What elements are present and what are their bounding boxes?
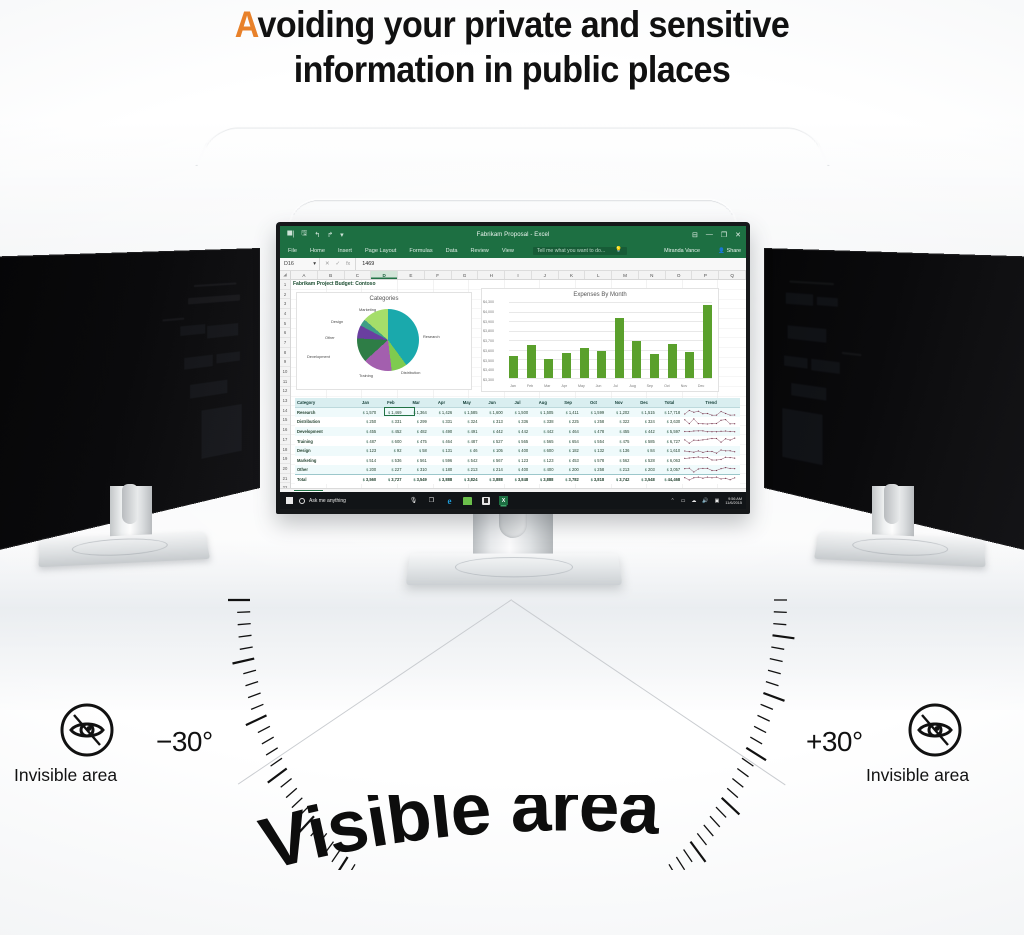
minor-tick xyxy=(766,682,779,686)
row-header[interactable]: 15 xyxy=(280,416,290,426)
pie-label-marketing: Marketing xyxy=(359,307,376,312)
table-cell-sparkline[interactable] xyxy=(682,408,740,418)
table-cell-sparkline[interactable] xyxy=(682,427,740,437)
invisible-area-label-right: Invisible area xyxy=(866,765,969,786)
minor-tick xyxy=(737,769,748,777)
row-header[interactable]: 9 xyxy=(280,358,290,368)
table-cell-value[interactable]: $ 3,848 xyxy=(505,475,530,485)
system-tray[interactable]: ⌃ ▭ ☁ 🔊 ▣ 9:56 AM 11/6/2015 xyxy=(670,497,746,505)
major-tick xyxy=(233,659,255,664)
minor-tick xyxy=(262,737,274,744)
y-tick-label: $3,300 xyxy=(483,378,494,382)
table-cell-value[interactable]: $ 455 xyxy=(353,427,378,437)
table-cell-value[interactable]: $ 1,599 xyxy=(581,408,606,418)
table-cell-value[interactable]: $ 562 xyxy=(606,456,631,466)
excel-title-bar: ⯀| 🖫 ↰ ↱ ▾ Fabrikam Proposal - Excel ⊟ —… xyxy=(280,226,746,243)
table-cell-value[interactable]: $ 136 xyxy=(606,446,631,456)
table-column-header: Dec xyxy=(631,398,656,408)
table-cell-value[interactable]: $ 514 xyxy=(353,456,378,466)
table-cell-value[interactable]: $ 442 xyxy=(505,427,530,437)
volume-icon[interactable]: 🔊 xyxy=(702,498,708,504)
name-box-chevron-icon[interactable]: ▾ xyxy=(313,261,316,267)
table-cell-value[interactable]: $ 1,585 xyxy=(454,408,479,418)
table-cell-value[interactable]: $ 313 xyxy=(479,417,504,427)
table-cell-value[interactable]: $ 1,411 xyxy=(555,408,580,418)
tab-formulas[interactable]: Formulas xyxy=(409,248,432,254)
row-header[interactable]: 18 xyxy=(280,445,290,455)
table-cell-value[interactable]: $ 200 xyxy=(555,465,580,475)
minor-tick xyxy=(239,635,252,637)
table-cell-value[interactable]: $ 475 xyxy=(606,436,631,446)
column-header-K[interactable]: K xyxy=(559,271,586,279)
cancel-icon[interactable]: ✕ xyxy=(325,261,330,267)
column-header-J[interactable]: J xyxy=(532,271,559,279)
bar-jul xyxy=(615,318,624,378)
table-cell-value[interactable]: $ 1,515 xyxy=(631,408,656,418)
table-cell-value[interactable]: $ 338 xyxy=(530,417,555,427)
table-cell-value[interactable]: $ 132 xyxy=(581,446,606,456)
tab-data[interactable]: Data xyxy=(446,248,458,254)
table-cell-value[interactable]: $ 400 xyxy=(530,465,555,475)
tab-home[interactable]: Home xyxy=(310,248,325,254)
headline-line-2: information in public places xyxy=(41,47,983,92)
bar-chart-title: Expenses By Month xyxy=(482,292,718,298)
column-header-Q[interactable]: Q xyxy=(719,271,746,279)
table-cell-value[interactable]: $ 478 xyxy=(581,427,606,437)
minor-tick xyxy=(732,779,743,788)
share-label: Share xyxy=(727,248,741,254)
table-cell-value[interactable]: $ 324 xyxy=(454,417,479,427)
table-cell-value[interactable]: $ 487 xyxy=(353,436,378,446)
table-cell-total[interactable]: $ 44,468 xyxy=(657,475,682,485)
table-cell-value[interactable]: $ 336 xyxy=(505,417,530,427)
table-cell-value[interactable]: $ 182 xyxy=(555,446,580,456)
row-header[interactable]: 10 xyxy=(280,367,290,377)
ghost-content xyxy=(817,297,838,307)
table-cell-sparkline[interactable] xyxy=(682,456,740,466)
bar-oct xyxy=(668,344,677,378)
window-title: Fabrikam Proposal - Excel xyxy=(280,232,746,238)
table-cell-sparkline[interactable] xyxy=(682,446,740,456)
ghost-content xyxy=(188,294,240,304)
lightbulb-icon: 💡 xyxy=(615,247,622,253)
table-row[interactable]: Total$ 3,560$ 3,727$ 3,549$ 3,888$ 3,824… xyxy=(295,475,740,485)
row-header[interactable]: 16 xyxy=(280,425,290,435)
table-cell-value[interactable]: $ 490 xyxy=(429,427,454,437)
show-hidden-icons-icon[interactable]: ⌃ xyxy=(670,498,674,504)
table-row[interactable]: Research$ 1,570$ 1,469$ 1,364$ 1,426$ 1,… xyxy=(295,408,740,418)
table-cell-value[interactable]: $ 567 xyxy=(479,456,504,466)
table-header-row: CategoryJanFebMarAprMayJunJulAugSepOctNo… xyxy=(295,398,740,408)
table-cell-value[interactable]: $ 400 xyxy=(505,465,530,475)
tab-view[interactable]: View xyxy=(502,248,514,254)
table-column-header: Aug xyxy=(530,398,555,408)
table-cell-value[interactable]: $ 3,548 xyxy=(631,475,656,485)
minor-tick xyxy=(773,624,786,625)
table-cell-value[interactable]: $ 331 xyxy=(429,417,454,427)
table-cell-value[interactable]: $ 3,888 xyxy=(530,475,555,485)
table-cell-value[interactable]: $ 482 xyxy=(404,427,429,437)
table-cell-value[interactable]: $ 400 xyxy=(505,446,530,456)
table-cell-total[interactable]: $ 6,727 xyxy=(657,436,682,446)
table-cell-value[interactable]: $ 528 xyxy=(631,456,656,466)
row-header[interactable]: 12 xyxy=(280,387,290,397)
minor-tick xyxy=(237,612,250,613)
table-row[interactable]: Other$ 200$ 227$ 310$ 180$ 213$ 214$ 400… xyxy=(295,465,740,475)
table-cell-value[interactable]: $ 487 xyxy=(454,436,479,446)
angle-label-left: −30° xyxy=(156,726,213,758)
bar-sep xyxy=(650,354,659,378)
headline-line-1-rest: voiding your private and sensitive xyxy=(258,4,790,45)
sheet-title-cell[interactable]: Fabrikam Project Budget: Contoso xyxy=(293,281,376,287)
windows-taskbar[interactable]: Ask me anything 🎙 ❐ e X ⌃ ▭ ☁ 🔊 ▣ xyxy=(280,492,746,509)
ghost-content xyxy=(784,355,808,368)
table-row[interactable]: Distribution$ 250$ 331$ 299$ 331$ 324$ 3… xyxy=(295,417,740,427)
search-placeholder: Ask me anything xyxy=(309,498,346,504)
table-cell-value[interactable]: $ 464 xyxy=(555,427,580,437)
table-cell-value[interactable]: $ 250 xyxy=(353,417,378,427)
left-monitor xyxy=(0,248,268,568)
pie-chart-plot: Research Distribution Training Developme… xyxy=(297,302,471,380)
excel-icon[interactable]: X xyxy=(499,496,508,505)
minor-tick xyxy=(281,779,292,788)
budget-table[interactable]: CategoryJanFebMarAprMayJunJulAugSepOctNo… xyxy=(295,398,740,484)
row-header[interactable]: 5 xyxy=(280,319,290,329)
ribbon-tabs[interactable]: File Home Insert Page Layout Formulas Da… xyxy=(280,243,746,258)
table-cell-value[interactable]: $ 1,500 xyxy=(505,408,530,418)
table-cell-sparkline[interactable] xyxy=(682,417,740,427)
table-cell-category[interactable]: Training xyxy=(295,436,353,446)
table-row[interactable]: Training$ 487$ 600$ 475$ 464$ 487$ 527$ … xyxy=(295,436,740,446)
x-tick-label: Aug xyxy=(629,384,635,388)
pie-chart[interactable]: Categories Research Distribution Trainin… xyxy=(296,292,472,390)
tell-me-search[interactable]: Tell me what you want to do... 💡 xyxy=(533,247,627,255)
major-tick xyxy=(246,715,267,725)
table-cell-value[interactable]: $ 565 xyxy=(530,436,555,446)
table-cell-value[interactable]: $ 542 xyxy=(454,456,479,466)
table-cell-value[interactable]: $ 123 xyxy=(353,446,378,456)
row-header[interactable]: 14 xyxy=(280,406,290,416)
major-tick xyxy=(746,748,766,760)
ghost-content xyxy=(190,380,227,399)
enter-icon[interactable]: ✓ xyxy=(336,261,341,267)
row-header[interactable]: 2 xyxy=(280,290,290,300)
ribbon-display-icon[interactable]: ⊟ xyxy=(692,231,698,239)
table-cell-value[interactable]: $ 600 xyxy=(530,446,555,456)
column-header-I[interactable]: I xyxy=(505,271,532,279)
action-center-icon[interactable]: ▣ xyxy=(715,498,720,504)
table-cell-value[interactable]: $ 105 xyxy=(479,446,504,456)
taskbar-pinned-icons[interactable]: 🎙 ❐ e X xyxy=(409,496,508,505)
row-header[interactable]: 17 xyxy=(280,435,290,445)
worksheet-grid[interactable]: 1234567891011121314151617181920212223 Fa… xyxy=(280,280,746,509)
x-tick-label: Dec xyxy=(698,384,704,388)
formula-bar-value[interactable]: 1469 xyxy=(356,261,374,267)
minor-tick xyxy=(251,704,263,709)
column-header-N[interactable]: N xyxy=(639,271,666,279)
bar-jun xyxy=(597,351,606,378)
insert-function-icon[interactable]: fx xyxy=(346,261,350,267)
x-tick-label: Apr xyxy=(562,384,568,388)
table-cell-value[interactable]: $ 214 xyxy=(479,465,504,475)
bar-nov xyxy=(685,352,694,378)
column-headers[interactable]: ◢ A B C D E F G H I J K L M N O P Q xyxy=(280,271,746,280)
table-cell-value[interactable]: $ 84 xyxy=(631,446,656,456)
table-cell-value[interactable]: $ 3,888 xyxy=(429,475,454,485)
table-cell-value[interactable]: $ 3,818 xyxy=(581,475,606,485)
table-cell-value[interactable]: $ 453 xyxy=(555,456,580,466)
tab-insert[interactable]: Insert xyxy=(338,248,352,254)
column-header-G[interactable]: G xyxy=(452,271,479,279)
table-cell-value[interactable]: $ 3,742 xyxy=(606,475,631,485)
row-header[interactable]: 3 xyxy=(280,299,290,309)
table-cell-value[interactable]: $ 180 xyxy=(429,465,454,475)
row-header[interactable]: 8 xyxy=(280,348,290,358)
row-header[interactable]: 1 xyxy=(280,280,290,290)
table-cell-value[interactable]: $ 1,600 xyxy=(479,408,504,418)
table-cell-value[interactable]: $ 527 xyxy=(479,436,504,446)
minor-tick xyxy=(258,726,270,732)
table-cell-value[interactable]: $ 536 xyxy=(378,456,403,466)
ghost-content xyxy=(162,318,184,322)
pie-label-other: Other xyxy=(325,335,335,340)
table-cell-category[interactable]: Other xyxy=(295,465,353,475)
column-header-P[interactable]: P xyxy=(692,271,719,279)
tab-review[interactable]: Review xyxy=(471,248,489,254)
table-cell-value[interactable]: $ 600 xyxy=(378,436,403,446)
pie-slices xyxy=(357,309,419,371)
column-header-A[interactable]: A xyxy=(291,271,318,279)
table-cell-value[interactable]: $ 464 xyxy=(429,436,454,446)
table-cell-value[interactable]: $ 561 xyxy=(404,456,429,466)
y-tick-label: $3,500 xyxy=(483,359,494,363)
ghost-content xyxy=(201,404,241,459)
windows-start-icon[interactable] xyxy=(280,497,299,504)
table-cell-value[interactable]: $ 3,560 xyxy=(353,475,378,485)
column-header-L[interactable]: L xyxy=(585,271,612,279)
table-body[interactable]: Research$ 1,570$ 1,469$ 1,364$ 1,426$ 1,… xyxy=(295,408,740,485)
ghost-content xyxy=(194,282,237,287)
table-cell-category[interactable]: Distribution xyxy=(295,417,353,427)
table-row[interactable]: Development$ 455$ 452$ 482$ 490$ 491$ 44… xyxy=(295,427,740,437)
formula-bar[interactable]: D16▾ ✕ ✓ fx 1469 xyxy=(280,258,746,271)
table-cell-sparkline[interactable] xyxy=(682,436,740,446)
pie-label-training: Training xyxy=(359,373,373,378)
table-cell-category[interactable]: Development xyxy=(295,427,353,437)
table-cell-value[interactable]: $ 491 xyxy=(454,427,479,437)
column-header-O[interactable]: O xyxy=(666,271,693,279)
bar-chart[interactable]: Expenses By Month $4,300$4,000$3,900$3,8… xyxy=(481,288,719,392)
table-cell-value[interactable]: $ 1,202 xyxy=(606,408,631,418)
table-cell-category[interactable]: Total xyxy=(295,475,353,485)
column-header-M[interactable]: M xyxy=(612,271,639,279)
column-header-C[interactable]: C xyxy=(345,271,372,279)
taskbar-clock[interactable]: 9:56 AM 11/6/2015 xyxy=(725,497,742,505)
bar-dec xyxy=(703,305,712,378)
store-icon[interactable] xyxy=(481,496,490,505)
edge-icon[interactable]: e xyxy=(445,496,454,505)
table-cell-value[interactable]: $ 225 xyxy=(555,417,580,427)
table-row[interactable]: Design$ 123$ 92$ 58$ 131$ 46$ 105$ 400$ … xyxy=(295,446,740,456)
table-cell-value[interactable]: $ 258 xyxy=(581,465,606,475)
table-cell-total[interactable]: $ 1,610 xyxy=(657,446,682,456)
pie-label-distribution: Distribution xyxy=(401,370,420,375)
table-cell-category[interactable]: Design xyxy=(295,446,353,456)
table-cell-value[interactable]: $ 203 xyxy=(631,465,656,475)
table-cell-value[interactable]: $ 585 xyxy=(631,436,656,446)
right-monitor-cable-slot xyxy=(884,484,900,524)
bar-apr xyxy=(562,353,571,378)
ghost-content xyxy=(207,323,238,338)
y-tick-label: $3,900 xyxy=(483,320,494,324)
row-header[interactable]: 13 xyxy=(280,396,290,406)
select-all-corner-icon[interactable]: ◢ xyxy=(280,271,291,279)
table-cell-value[interactable]: $ 3,824 xyxy=(454,475,479,485)
minor-tick xyxy=(758,715,770,721)
angle-label-right: +30° xyxy=(806,726,863,758)
formula-bar-buttons[interactable]: ✕ ✓ fx xyxy=(320,258,356,270)
y-tick-label: $4,000 xyxy=(483,310,494,314)
x-tick-label: Oct xyxy=(664,384,670,388)
table-cell-value[interactable]: $ 596 xyxy=(429,456,454,466)
table-cell-category[interactable]: Research xyxy=(295,408,353,418)
table-cell-value[interactable]: $ 258 xyxy=(581,417,606,427)
major-tick xyxy=(773,635,795,638)
table-cell-value[interactable]: $ 200 xyxy=(353,465,378,475)
minor-tick xyxy=(754,726,766,732)
headline-line-1: Avoiding your private and sensitive xyxy=(41,2,983,47)
table-cell-value[interactable]: $ 452 xyxy=(378,427,403,437)
cortana-search-box[interactable]: Ask me anything xyxy=(299,498,409,504)
name-box[interactable]: D16▾ xyxy=(280,258,320,270)
table-cell-value[interactable]: $ 442 xyxy=(631,427,656,437)
row-header[interactable]: 20 xyxy=(280,464,290,474)
table-cell-value[interactable]: $ 299 xyxy=(404,417,429,427)
table-cell-value[interactable]: $ 310 xyxy=(404,465,429,475)
tab-page-layout[interactable]: Page Layout xyxy=(365,248,396,254)
task-view-icon[interactable]: ❐ xyxy=(427,496,436,505)
tab-file[interactable]: File xyxy=(288,248,297,254)
file-explorer-icon[interactable] xyxy=(463,496,472,505)
headline-accent-letter: A xyxy=(235,4,258,45)
y-tick-label: $4,300 xyxy=(483,300,494,304)
bar-aug xyxy=(632,341,641,378)
table-cell-value[interactable]: $ 475 xyxy=(404,436,429,446)
close-icon[interactable]: ✕ xyxy=(735,231,741,239)
table-cell-value[interactable]: $ 3,782 xyxy=(555,475,580,485)
table-column-header: Apr xyxy=(429,398,454,408)
network-icon[interactable]: ▭ xyxy=(681,498,686,504)
minor-tick xyxy=(771,647,784,649)
y-tick-label: $3,600 xyxy=(483,349,494,353)
table-cell-value[interactable]: $ 3,549 xyxy=(404,475,429,485)
table-cell-sparkline[interactable] xyxy=(682,475,740,485)
clock-date: 11/6/2015 xyxy=(725,501,742,505)
table-cell-value[interactable]: $ 554 xyxy=(581,436,606,446)
share-button[interactable]: 👤 Share xyxy=(718,248,741,254)
table-cell-value[interactable]: $ 92 xyxy=(378,446,403,456)
table-cell-total[interactable]: $ 3,057 xyxy=(657,465,682,475)
ghost-content xyxy=(811,359,839,374)
table-cell-value[interactable]: $ 322 xyxy=(606,417,631,427)
table-cell-value[interactable]: $ 654 xyxy=(555,436,580,446)
table-cell-total[interactable]: $ 5,597 xyxy=(657,427,682,437)
minimize-icon[interactable]: — xyxy=(706,231,713,239)
table-cell-value[interactable]: $ 123 xyxy=(530,456,555,466)
row-header[interactable]: 4 xyxy=(280,309,290,319)
visible-area-label: Visible area xyxy=(0,795,1024,935)
bar-may xyxy=(580,348,589,378)
table-cell-value[interactable]: $ 227 xyxy=(378,465,403,475)
table-cell-value[interactable]: $ 578 xyxy=(581,456,606,466)
page-title: Avoiding your private and sensitive info… xyxy=(41,2,983,92)
user-name[interactable]: Miranda Vance xyxy=(664,248,700,254)
table-cell-sparkline[interactable] xyxy=(682,465,740,475)
column-header-H[interactable]: H xyxy=(478,271,505,279)
table-cell-value[interactable]: $ 455 xyxy=(606,427,631,437)
svg-text:Visible area: Visible area xyxy=(252,795,663,885)
ghost-content xyxy=(842,352,862,356)
column-header-B[interactable]: B xyxy=(318,271,345,279)
x-tick-label: Jan xyxy=(510,384,516,388)
table-cell-value[interactable]: $ 442 xyxy=(530,427,555,437)
table-row[interactable]: Marketing$ 514$ 536$ 561$ 596$ 542$ 567$… xyxy=(295,456,740,466)
table-cell-value[interactable]: $ 442 xyxy=(479,427,504,437)
restore-icon[interactable]: ❐ xyxy=(721,231,727,239)
table-cell-total[interactable]: $ 6,063 xyxy=(657,456,682,466)
x-tick-label: Feb xyxy=(527,384,533,388)
worksheet-cells[interactable]: Fabrikam Project Budget: Contoso Categor… xyxy=(291,280,746,509)
minor-tick xyxy=(238,624,251,625)
center-monitor-screen: ⯀| 🖫 ↰ ↱ ▾ Fabrikam Proposal - Excel ⊟ —… xyxy=(280,226,746,509)
window-controls[interactable]: ⊟ — ❐ ✕ xyxy=(692,231,741,239)
table-cell-total[interactable]: $ 17,718 xyxy=(657,408,682,418)
table-cell-value[interactable]: $ 58 xyxy=(404,446,429,456)
onedrive-icon[interactable]: ☁ xyxy=(691,498,696,504)
column-header-D[interactable]: D xyxy=(371,271,398,279)
table-cell-value[interactable]: $ 1,570 xyxy=(353,408,378,418)
table-cell-value[interactable]: $ 565 xyxy=(505,436,530,446)
table-cell-value[interactable]: $ 131 xyxy=(429,446,454,456)
minor-tick xyxy=(240,647,253,649)
major-tick xyxy=(763,693,784,701)
table-cell-value[interactable]: $ 46 xyxy=(454,446,479,456)
row-header[interactable]: 11 xyxy=(280,377,290,387)
row-header[interactable]: 6 xyxy=(280,328,290,338)
table-cell-value[interactable]: $ 324 xyxy=(631,417,656,427)
table-cell-category[interactable]: Marketing xyxy=(295,456,353,466)
row-header[interactable]: 21 xyxy=(280,474,290,484)
table-column-header: Jan xyxy=(353,398,378,408)
table-column-header: Jul xyxy=(505,398,530,408)
table-column-header: Category xyxy=(295,398,353,408)
column-header-F[interactable]: F xyxy=(425,271,452,279)
microphone-icon[interactable]: 🎙 xyxy=(409,496,418,505)
table-cell-value[interactable]: $ 1,505 xyxy=(530,408,555,418)
table-cell-total[interactable]: $ 3,630 xyxy=(657,417,682,427)
table-cell-value[interactable]: $ 213 xyxy=(606,465,631,475)
table-cell-value[interactable]: $ 3,727 xyxy=(378,475,403,485)
table-cell-value[interactable]: $ 3,888 xyxy=(479,475,504,485)
column-header-E[interactable]: E xyxy=(398,271,425,279)
table-cell-value[interactable]: $ 1,426 xyxy=(429,408,454,418)
table-cell-value[interactable]: $ 331 xyxy=(378,417,403,427)
table-cell-value[interactable]: $ 123 xyxy=(505,456,530,466)
table-cell-value[interactable]: $ 213 xyxy=(454,465,479,475)
row-headers[interactable]: 1234567891011121314151617181920212223 xyxy=(280,280,291,509)
row-header[interactable]: 19 xyxy=(280,454,290,464)
row-header[interactable]: 7 xyxy=(280,338,290,348)
